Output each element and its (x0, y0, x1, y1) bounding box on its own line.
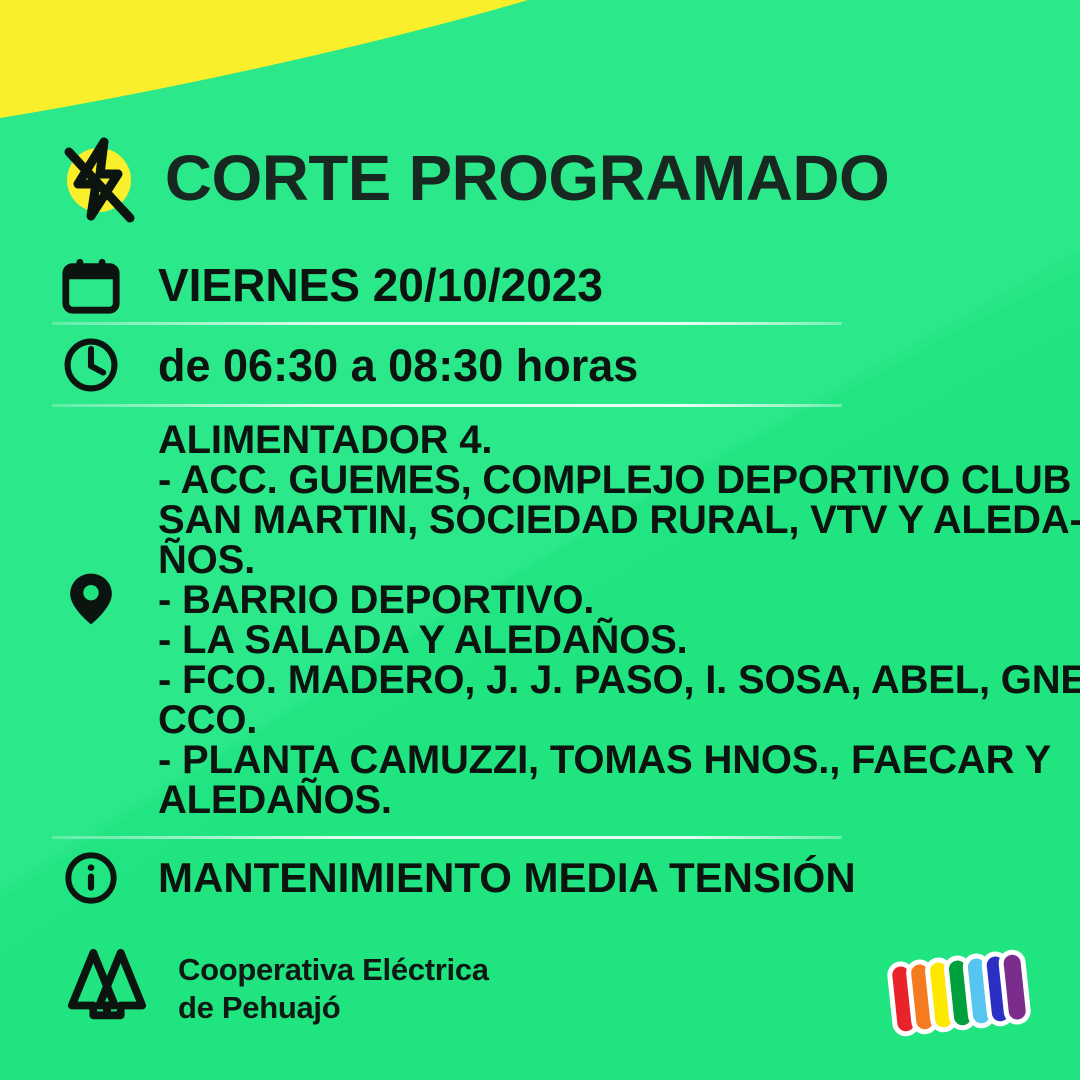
announcement-card: CORTE PROGRAMADO VIERNES 20/10/2023 de 0… (0, 0, 1080, 1080)
place-line: - PLANTA CAMUZZI, TOMAS HNOS., FAECAR Y (158, 740, 1038, 780)
divider-3 (52, 836, 842, 839)
place-line: ÑOS. (158, 540, 1038, 580)
footer: Cooperativa Eléctrica de Pehuajó (58, 945, 489, 1032)
time-row: de 06:30 a 08:30 horas (58, 332, 638, 398)
info-circle-icon (58, 845, 124, 911)
place-line: ALIMENTADOR 4. (158, 420, 1038, 460)
divider-1 (52, 322, 842, 325)
date-row: VIERNES 20/10/2023 (58, 252, 603, 318)
rainbow-pride-flag (886, 948, 1032, 1038)
place-line: - BARRIO DEPORTIVO. (158, 580, 1038, 620)
place-line: CCO. (158, 700, 1038, 740)
place-line: SAN MARTIN, SOCIEDAD RURAL, VTV Y ALEDA- (158, 500, 1038, 540)
place-line: - LA SALADA Y ALEDAÑOS. (158, 620, 1038, 660)
bolt-off-icon (52, 128, 146, 228)
place-line: ALEDAÑOS. (158, 780, 1038, 820)
flag-stripe-purple (1000, 951, 1029, 1023)
note-row: MANTENIMIENTO MEDIA TENSIÓN (58, 845, 856, 911)
place-line: - ACC. GUEMES, COMPLEJO DEPORTIVO CLUB (158, 460, 1038, 500)
date-text: VIERNES 20/10/2023 (158, 262, 603, 308)
brand-name: Cooperativa Eléctrica de Pehuajó (178, 951, 489, 1027)
time-text: de 06:30 a 08:30 horas (158, 343, 638, 388)
brand-line-2: de Pehuajó (178, 990, 340, 1025)
places-list: ALIMENTADOR 4. - ACC. GUEMES, COMPLEJO D… (158, 420, 1038, 820)
place-line: - FCO. MADERO, J. J. PASO, I. SOSA, ABEL… (158, 660, 1038, 700)
brand-line-1: Cooperativa Eléctrica (178, 952, 489, 987)
divider-2 (52, 404, 842, 407)
header: CORTE PROGRAMADO (52, 128, 882, 228)
note-text: MANTENIMIENTO MEDIA TENSIÓN (158, 857, 856, 899)
clock-icon (58, 332, 124, 398)
location-pin-icon (58, 566, 124, 632)
cooperativa-pylon-logo (58, 945, 156, 1032)
calendar-icon (58, 252, 124, 318)
places-row: ALIMENTADOR 4. - ACC. GUEMES, COMPLEJO D… (58, 420, 1048, 820)
page-title: CORTE PROGRAMADO (165, 146, 889, 210)
